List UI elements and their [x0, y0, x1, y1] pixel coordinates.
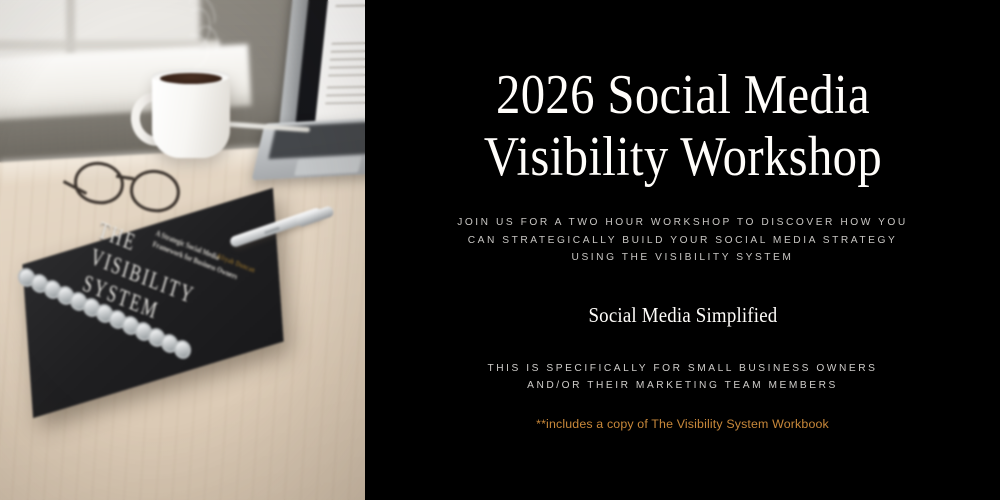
- headline-line-1: 2026 Social Media: [496, 64, 870, 126]
- doc-line: [327, 85, 365, 88]
- promotional-banner: THE VISIBILITY SYSTEM A Strategic Social…: [0, 0, 1000, 500]
- doc-line: [330, 49, 365, 52]
- workshop-description: JOIN US FOR A TWO HOUR WORKSHOP TO DISCO…: [453, 214, 913, 267]
- doc-line: [326, 93, 365, 96]
- window-frame-vertical: [66, 0, 75, 54]
- doc-line: [325, 101, 365, 104]
- promo-text-panel: 2026 Social Media Visibility Workshop JO…: [365, 0, 1000, 500]
- doc-line: [329, 65, 365, 68]
- target-audience-text: THIS IS SPECIFICALLY FOR SMALL BUSINESS …: [473, 360, 893, 395]
- doc-line: [331, 42, 365, 45]
- page-title: 2026 Social Media Visibility Workshop: [439, 64, 926, 188]
- workspace-photo: THE VISIBILITY SYSTEM A Strategic Social…: [0, 0, 365, 500]
- headline-line-2: Visibility Workshop: [483, 126, 881, 188]
- tagline: Social Media Simplified: [588, 303, 777, 328]
- doc-line: [335, 4, 365, 7]
- doc-line: [330, 58, 365, 61]
- coffee-mug: [152, 73, 230, 158]
- coffee-surface: [160, 73, 222, 84]
- doc-line: [328, 74, 365, 77]
- bonus-note: **includes a copy of The Visibility Syst…: [536, 417, 829, 431]
